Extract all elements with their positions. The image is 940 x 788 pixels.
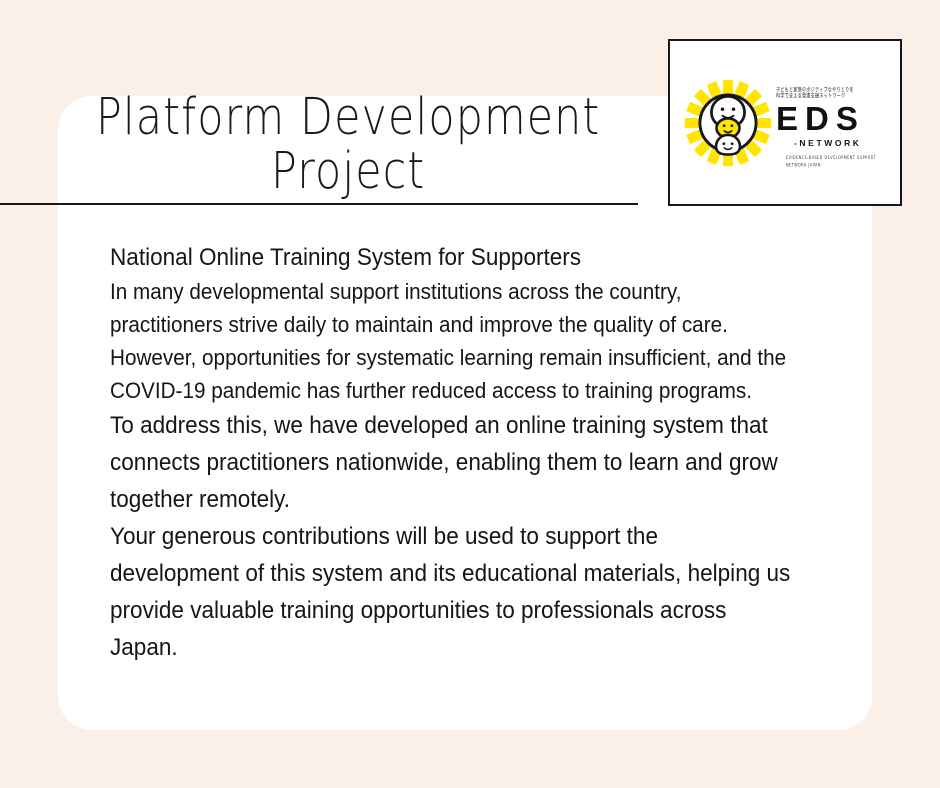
logo-caption: EVIDENCE-BASED DEVELOPMENT SUPPORTNETWOR… xyxy=(786,155,900,170)
logo-tagline-line-2: 科学で支える発達支援ネットワーク xyxy=(776,92,900,100)
body-copy: National Online Training System for Supp… xyxy=(110,240,850,666)
eds-sun-smiley-icon xyxy=(682,77,774,169)
logo-inner: 子どもと家族のポジティブなやりとりを 科学で支える発達支援ネットワーク EDS … xyxy=(670,41,900,204)
logo-network-label: -NETWORK xyxy=(794,138,900,148)
body-paragraph-2: To address this, we have developed an on… xyxy=(110,407,791,518)
body-heading: National Online Training System for Supp… xyxy=(110,240,791,275)
logo-caption-line-2: NETWORK JAPAN xyxy=(786,163,821,168)
logo-wordmark-eds: EDS xyxy=(776,102,900,135)
slide-root: Platform Development Project xyxy=(0,0,940,788)
logo-wordmark-block: 子どもと家族のポジティブなやりとりを 科学で支える発達支援ネットワーク EDS … xyxy=(776,78,900,166)
logo-caption-line-1: EVIDENCE-BASED DEVELOPMENT SUPPORT xyxy=(786,155,876,160)
body-paragraph-1: In many developmental support institutio… xyxy=(110,275,791,407)
title-divider xyxy=(0,203,638,205)
logo-box: 子どもと家族のポジティブなやりとりを 科学で支える発達支援ネットワーク EDS … xyxy=(668,39,902,206)
body-paragraph-3: Your generous contributions will be used… xyxy=(110,518,791,666)
